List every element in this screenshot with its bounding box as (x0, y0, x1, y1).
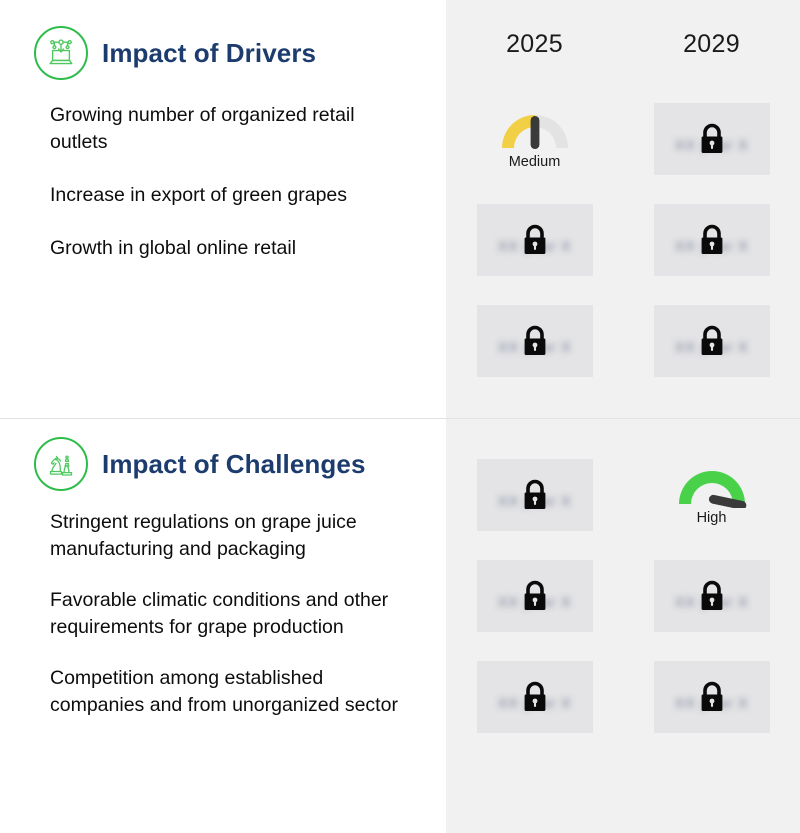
challenges-title: Impact of Challenges (102, 449, 366, 480)
locked-tile[interactable]: XX year X (654, 560, 770, 632)
locked-tile[interactable]: XX year X (654, 305, 770, 377)
cell-drivers-r2-2025[interactable]: XX year X (446, 189, 623, 290)
challenges-item-list: Stringent regulations on grape juice man… (0, 509, 446, 719)
locked-tile[interactable]: XX year X (477, 204, 593, 276)
list-item: Growth in global online retail (50, 235, 376, 262)
cell-drivers-r2-2029[interactable]: XX year X (623, 189, 800, 290)
locked-tile[interactable]: XX year X (477, 305, 593, 377)
cell-drivers-r1-2025: Medium (446, 88, 623, 189)
cell-drivers-r3-2025[interactable]: XX year X (446, 290, 623, 391)
cell-challenges-r1-2025[interactable]: XX year X (446, 444, 623, 545)
chess-pieces-icon (34, 437, 88, 491)
locked-tile[interactable]: XX year X (477, 459, 593, 531)
drivers-header: Impact of Drivers (0, 0, 446, 80)
drivers-item-list: Growing number of organized retail outle… (0, 102, 446, 262)
lock-icon (697, 122, 727, 156)
gauge-medium-dial (496, 107, 574, 152)
column-headers: 2025 2029 (446, 0, 800, 88)
list-item: Increase in export of green grapes (50, 182, 376, 209)
locked-tile[interactable]: XX year X (654, 661, 770, 733)
lock-icon (520, 324, 550, 358)
challenges-cell-grid: XX year X High (446, 444, 800, 747)
lock-icon (520, 579, 550, 613)
lock-icon (520, 680, 550, 714)
drivers-title: Impact of Drivers (102, 38, 316, 69)
cell-challenges-r3-2029[interactable]: XX year X (623, 646, 800, 747)
gauge-high-dial (673, 463, 751, 508)
drivers-section: Impact of Drivers Growing number of orga… (0, 0, 446, 418)
locked-tile[interactable]: XX year X (477, 661, 593, 733)
gauge-high: High (673, 463, 751, 526)
drivers-cell-grid: Medium XX year X XX year X (446, 88, 800, 391)
cell-challenges-r3-2025[interactable]: XX year X (446, 646, 623, 747)
column-header-2025: 2025 (446, 0, 623, 88)
cell-challenges-r1-2029: High (623, 444, 800, 545)
locked-tile[interactable]: XX year X (477, 560, 593, 632)
gauge-high-label: High (697, 510, 727, 526)
lock-icon (697, 680, 727, 714)
list-item: Stringent regulations on grape juice man… (50, 509, 406, 563)
list-item: Favorable climatic conditions and other … (50, 587, 406, 641)
challenges-section: Impact of Challenges Stringent regulatio… (0, 419, 446, 833)
cell-challenges-r2-2029[interactable]: XX year X (623, 545, 800, 646)
challenges-header: Impact of Challenges (0, 419, 446, 491)
column-header-2029: 2029 (623, 0, 800, 88)
lock-icon (697, 579, 727, 613)
list-item: Growing number of organized retail outle… (50, 102, 376, 156)
lock-icon (520, 223, 550, 257)
gauge-medium-label: Medium (509, 154, 561, 170)
drivers-tech-laptop-icon (34, 26, 88, 80)
cell-challenges-r2-2025[interactable]: XX year X (446, 545, 623, 646)
lock-icon (520, 478, 550, 512)
cell-drivers-r3-2029[interactable]: XX year X (623, 290, 800, 391)
cell-drivers-r1-2029[interactable]: XX year X (623, 88, 800, 189)
locked-tile[interactable]: XX year X (654, 103, 770, 175)
list-item: Competition among established companies … (50, 665, 406, 719)
locked-tile[interactable]: XX year X (654, 204, 770, 276)
impact-matrix-page: 2025 2029 Impact of Dr (0, 0, 800, 833)
gauge-medium: Medium (496, 107, 574, 170)
lock-icon (697, 324, 727, 358)
lock-icon (697, 223, 727, 257)
